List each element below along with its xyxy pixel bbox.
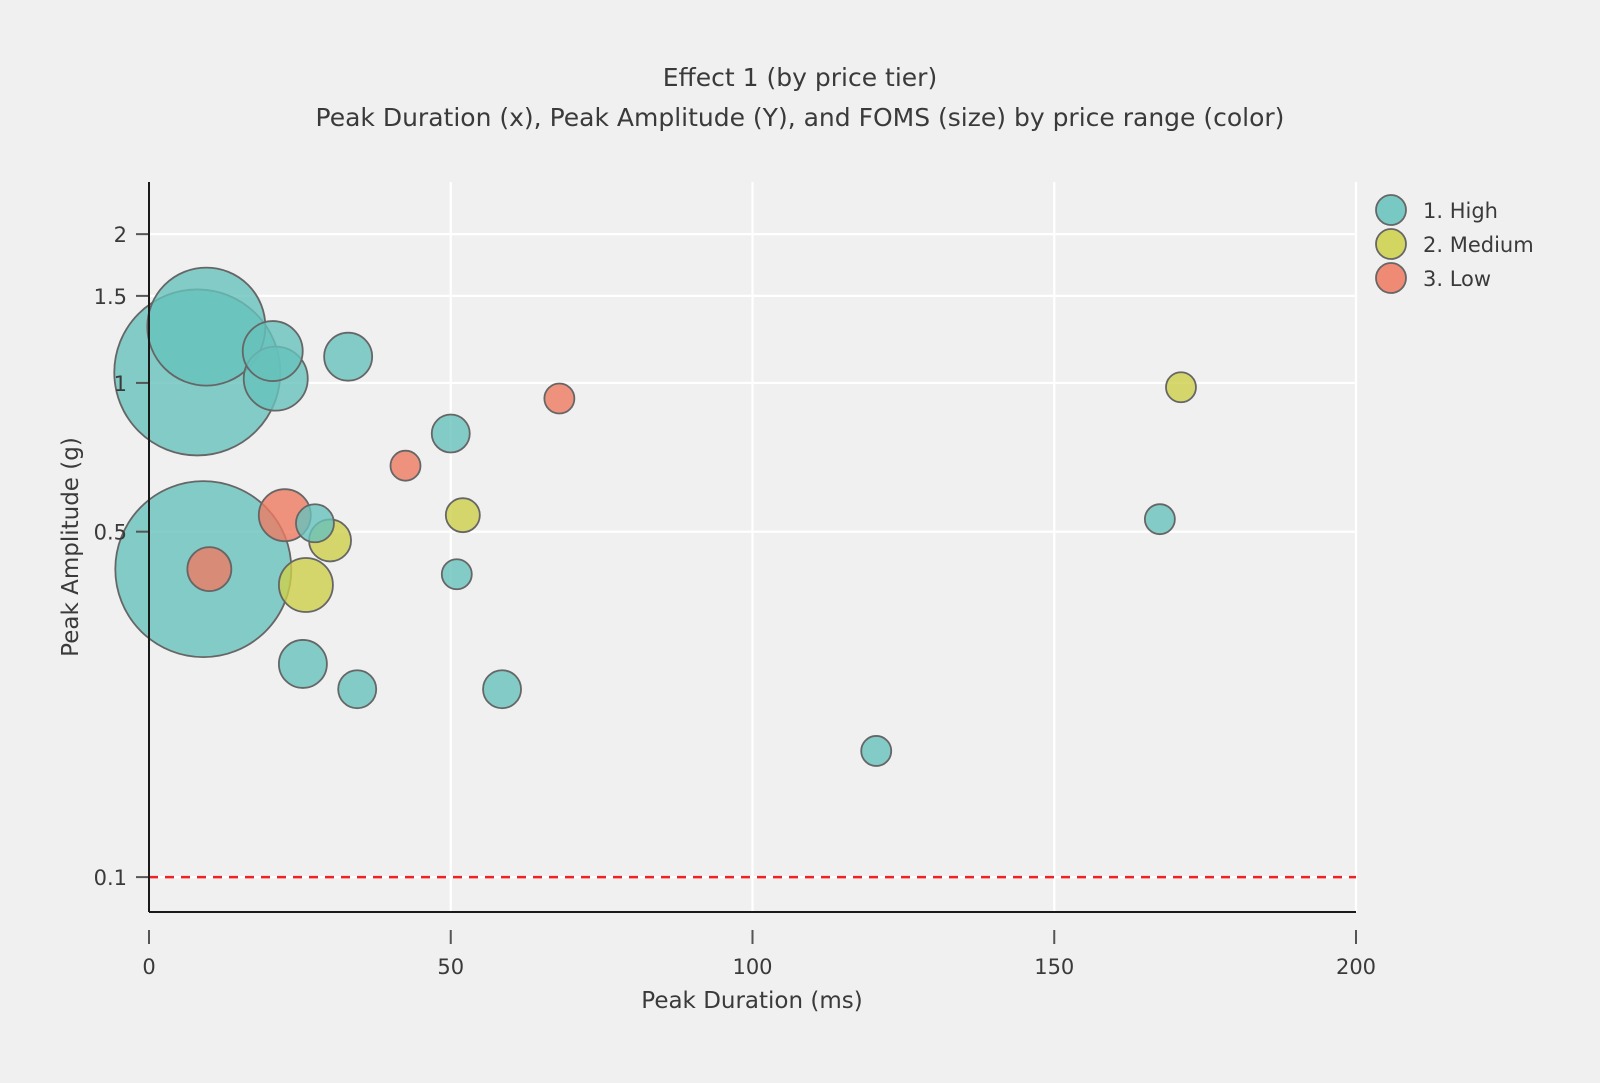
bubble-chart-svg: 0501001502000.10.511.52 1. High2. Medium…: [0, 0, 1600, 1083]
y-tick-label: 2: [114, 223, 127, 247]
legend-label-2[interactable]: 2. Medium: [1423, 233, 1534, 257]
legend-marker-1[interactable]: [1376, 195, 1406, 225]
bubble-marker[interactable]: [442, 559, 472, 589]
legend-label-1[interactable]: 1. High: [1423, 199, 1498, 223]
x-tick-label: 200: [1336, 955, 1376, 979]
bubble-marker[interactable]: [1166, 372, 1196, 402]
legend-marker-3[interactable]: [1376, 263, 1406, 293]
bubble-marker[interactable]: [1145, 504, 1175, 534]
bubble-marker[interactable]: [187, 547, 231, 591]
bubble-marker[interactable]: [432, 415, 470, 453]
bubble-marker[interactable]: [483, 670, 521, 708]
y-tick-label: 1.5: [94, 285, 127, 309]
bubble-marker[interactable]: [243, 321, 303, 381]
legend-label-3[interactable]: 3. Low: [1423, 267, 1491, 291]
bubble-marker[interactable]: [296, 504, 334, 542]
y-tick-label: 0.1: [94, 866, 127, 890]
x-tick-label: 50: [437, 955, 464, 979]
x-axis-title: Peak Duration (ms): [641, 988, 862, 1014]
legend-group[interactable]: 1. High2. Medium3. Low: [1376, 195, 1534, 293]
bubble-marker[interactable]: [279, 558, 333, 612]
x-tick-label: 100: [732, 955, 772, 979]
y-axis-title: Peak Amplitude (g): [58, 437, 84, 657]
bubbles-group: [114, 268, 1196, 766]
x-tick-label: 0: [142, 955, 155, 979]
x-tick-label: 150: [1034, 955, 1074, 979]
y-tick-label: 1: [114, 372, 127, 396]
bubble-marker[interactable]: [861, 736, 891, 766]
chart-figure: Effect 1 (by price tier) Peak Duration (…: [0, 0, 1600, 1083]
legend-marker-2[interactable]: [1376, 229, 1406, 259]
bubble-marker[interactable]: [279, 640, 327, 688]
bubble-marker[interactable]: [446, 498, 480, 532]
y-tick-label: 0.5: [94, 521, 127, 545]
bubble-marker[interactable]: [324, 333, 372, 381]
bubble-marker[interactable]: [338, 670, 376, 708]
bubble-marker[interactable]: [544, 383, 574, 413]
bubble-marker[interactable]: [390, 451, 420, 481]
